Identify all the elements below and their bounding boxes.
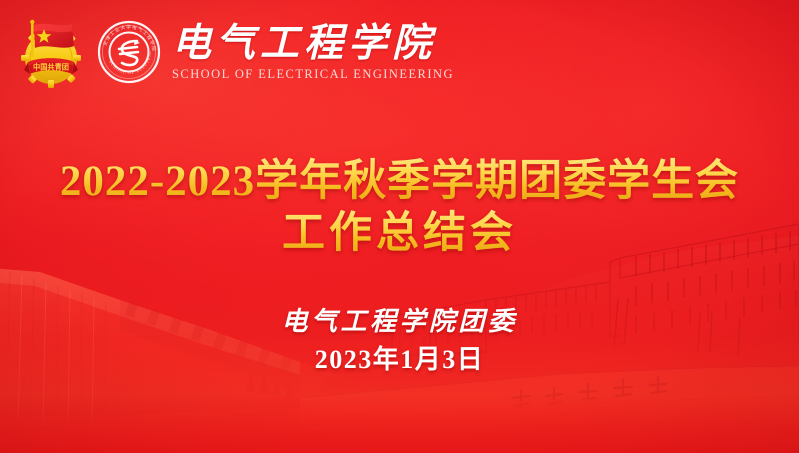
main-title: 2022-2023学年秋季学期团委学生会 工作总结会	[0, 156, 799, 260]
header-school-name: 电气工程学院 SCHOOL OF ELECTRICAL ENGINEERING	[172, 24, 454, 82]
subtitle: 电气工程学院团委 2023年1月3日	[0, 306, 799, 377]
poster-root: 中国共青团 天津工业大学电气工程学院 SCHOOL OF ELEC	[0, 0, 799, 453]
subtitle-organization: 电气工程学院团委	[0, 306, 799, 338]
school-name-en: SCHOOL OF ELECTRICAL ENGINEERING	[172, 67, 454, 82]
header: 中国共青团 天津工业大学电气工程学院 SCHOOL OF ELEC	[16, 14, 454, 90]
subtitle-date: 2023年1月3日	[0, 343, 799, 377]
school-seal-icon: 天津工业大学电气工程学院 SCHOOL OF ELECTRICAL ENG.	[97, 20, 161, 84]
communist-youth-league-badge-icon: 中国共青团	[16, 14, 88, 90]
school-name-cn: 电气工程学院	[172, 24, 454, 64]
svg-text:中国共青团: 中国共青团	[33, 62, 69, 71]
title-line-1: 2022-2023学年秋季学期团委学生会	[0, 156, 799, 208]
title-line-2: 工作总结会	[0, 208, 799, 260]
